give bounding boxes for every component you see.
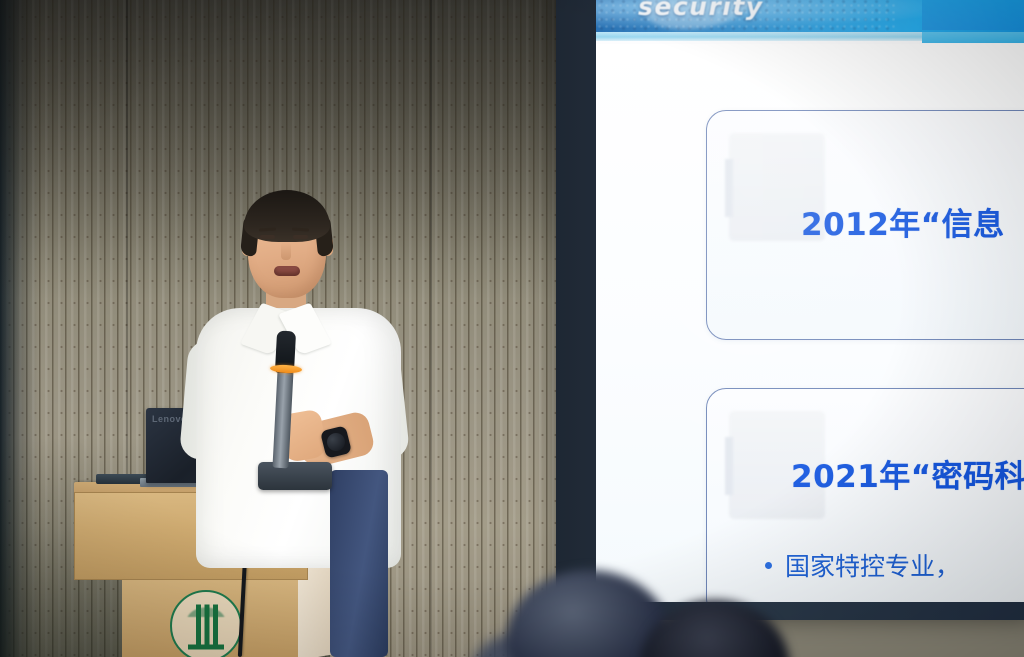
trousers [330,470,388,657]
banner-underline-right [922,32,1024,43]
watch-face [325,431,347,453]
card-1-heading: 2012年“信息 [801,199,1005,244]
wall-left-shadow [0,0,40,657]
wall-seam [430,0,432,657]
card-1-inner-bar [725,159,733,217]
bullet-dot-icon [765,562,772,569]
slide-banner: security [596,0,1024,35]
banner-word-security: security [638,0,764,21]
university-emblem-logo [170,590,242,657]
eye-right [293,235,308,239]
slide-card-1: 2012年“信息 [706,110,1024,340]
eye-left [260,235,275,239]
nose [281,242,291,260]
slide-body: 2012年“信息 2021年“密码科 国家特控专业， [596,44,1024,602]
emblem-glyph [188,605,224,650]
microphone-base [258,462,332,490]
projection-screen: security 2012年“信息 2021年“密码科 国家特控专业， [596,0,1024,602]
banner-right-block [922,0,1024,30]
card-2-bullet-row: 国家特控专业， [765,547,960,583]
hair-top [244,190,330,242]
card-2-inner-bar [725,437,733,495]
mouth [274,266,300,276]
slide-card-2: 2021年“密码科 国家特控专业， [706,388,1024,602]
presentation-photo: security 2012年“信息 2021年“密码科 国家特控专业， [0,0,1024,657]
card-2-heading: 2021年“密码科 [791,451,1024,496]
card-2-bullet-text: 国家特控专业， [785,547,960,583]
